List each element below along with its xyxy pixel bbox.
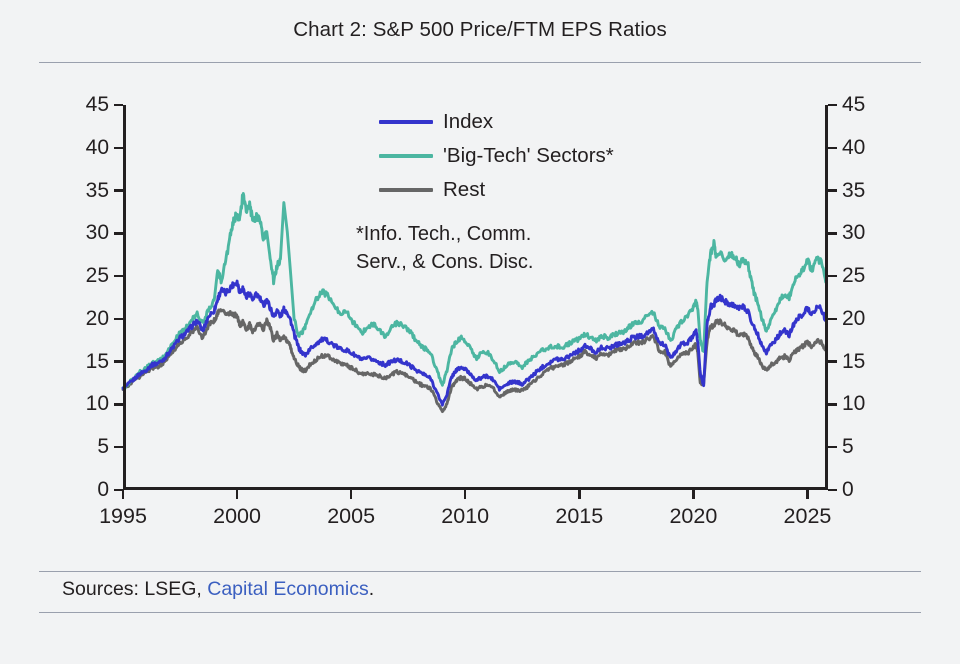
y-tick-label-left-10: 10 [86,393,109,414]
legend-swatch-index [379,120,433,124]
legend-swatch-rest [379,188,433,192]
plot-area: 051015202530354045 051015202530354045 19… [123,105,828,490]
y-tick-label-left-25: 25 [86,265,109,286]
y-tick-right-45 [828,104,837,106]
y-tick-label-left-20: 20 [86,308,109,329]
y-tick-label-right-0: 0 [842,479,854,500]
y-tick-label-left-30: 30 [86,222,109,243]
x-tick-2000 [236,490,238,499]
y-tick-left-25 [114,275,123,277]
y-tick-right-15 [828,360,837,362]
y-tick-label-left-35: 35 [86,180,109,201]
annotation-line-1: *Info. Tech., Comm. [356,220,533,248]
y-tick-right-25 [828,275,837,277]
y-tick-left-5 [114,446,123,448]
x-tick-label-2000: 2000 [213,504,261,529]
y-tick-right-40 [828,147,837,149]
y-tick-label-left-0: 0 [97,479,109,500]
legend-label-rest: Rest [443,178,485,202]
y-tick-label-right-20: 20 [842,308,865,329]
y-tick-label-left-40: 40 [86,137,109,158]
y-axis-left-spine [123,105,126,490]
y-tick-right-35 [828,189,837,191]
legend-item-rest: Rest [379,173,614,207]
y-tick-label-right-35: 35 [842,180,865,201]
y-tick-left-10 [114,403,123,405]
legend-swatch-bigtech [379,154,433,158]
y-tick-label-right-15: 15 [842,351,865,372]
legend-label-bigtech: 'Big-Tech' Sectors* [443,144,614,168]
x-tick-2015 [578,490,580,499]
y-tick-label-right-30: 30 [842,222,865,243]
x-tick-label-2010: 2010 [441,504,489,529]
y-tick-right-30 [828,232,837,234]
chart-legend: Index 'Big-Tech' Sectors* Rest [379,105,614,207]
chart-page: Chart 2: S&P 500 Price/FTM EPS Ratios 05… [0,0,960,664]
y-tick-label-right-45: 45 [842,94,865,115]
legend-label-index: Index [443,110,493,134]
x-tick-1995 [122,490,124,499]
y-tick-left-20 [114,318,123,320]
series-line-rest [123,310,826,412]
y-tick-label-left-45: 45 [86,94,109,115]
y-tick-left-40 [114,147,123,149]
sources-suffix: . [369,578,374,600]
y-tick-label-left-5: 5 [97,436,109,457]
x-tick-2010 [464,490,466,499]
x-tick-label-2025: 2025 [784,504,832,529]
y-tick-right-5 [828,446,837,448]
x-axis-spine [123,487,828,490]
page-title: Chart 2: S&P 500 Price/FTM EPS Ratios [0,18,960,42]
x-tick-2005 [350,490,352,499]
y-tick-label-right-5: 5 [842,436,854,457]
sources-line: Sources: LSEG, Capital Economics. [62,578,374,601]
y-tick-right-0 [828,489,837,491]
x-tick-label-1995: 1995 [99,504,147,529]
legend-item-bigtech: 'Big-Tech' Sectors* [379,139,614,173]
y-tick-left-15 [114,360,123,362]
footnote-annotation: *Info. Tech., Comm. Serv., & Cons. Disc. [356,220,533,277]
y-axis-right-spine [825,105,828,490]
divider-sources-top [39,571,921,572]
y-tick-left-45 [114,104,123,106]
y-tick-label-right-25: 25 [842,265,865,286]
x-tick-2020 [692,490,694,499]
annotation-line-2: Serv., & Cons. Disc. [356,248,533,276]
divider-sources-bottom [39,612,921,613]
sources-prefix: Sources: LSEG, [62,578,207,600]
x-tick-label-2015: 2015 [555,504,603,529]
y-tick-label-right-10: 10 [842,393,865,414]
y-tick-left-35 [114,189,123,191]
y-tick-right-10 [828,403,837,405]
y-tick-right-20 [828,318,837,320]
x-tick-label-2020: 2020 [669,504,717,529]
sources-brand-link[interactable]: Capital Economics [207,578,368,600]
legend-item-index: Index [379,105,614,139]
y-tick-label-left-15: 15 [86,351,109,372]
chart-panel: 051015202530354045 051015202530354045 19… [39,63,921,571]
y-tick-left-30 [114,232,123,234]
x-tick-label-2005: 2005 [327,504,375,529]
x-tick-2025 [806,490,808,499]
y-tick-label-right-40: 40 [842,137,865,158]
